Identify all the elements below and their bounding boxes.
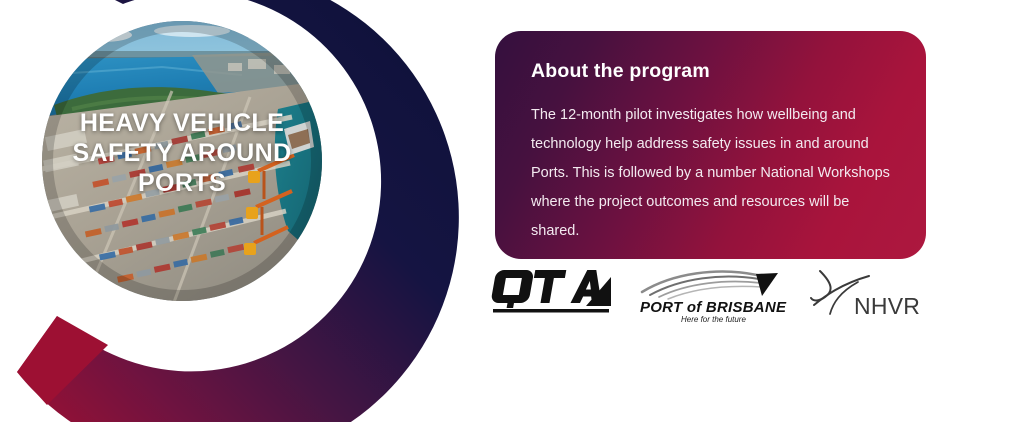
- card-body-text: The 12-month pilot investigates how well…: [531, 101, 890, 246]
- hero-title-line-2: SAFETY AROUND: [42, 138, 322, 168]
- port-of-brisbane-tagline: Here for the future: [681, 315, 746, 324]
- card-heading: About the program: [531, 59, 890, 83]
- qta-logo-mark: [488, 266, 613, 318]
- nhvr-wordmark: NHVR: [854, 293, 920, 319]
- hero-title-line-1: HEAVY VEHICLE: [42, 108, 322, 138]
- hero-title-line-3: PORTS: [42, 168, 322, 198]
- port-of-brisbane-logo-mark: PORT of BRISBANE Here for the future: [633, 266, 798, 324]
- hero-graphic: HEAVY VEHICLE SAFETY AROUND PORTS: [0, 0, 470, 422]
- port-of-brisbane-wordmark: PORT of BRISBANE: [640, 299, 787, 316]
- port-of-brisbane-logo[interactable]: PORT of BRISBANE Here for the future: [633, 266, 798, 324]
- partner-logo-row: PORT of BRISBANE Here for the future NHV…: [488, 266, 938, 328]
- nhvr-logo-mark: NHVR: [810, 266, 932, 322]
- about-the-program-card: About the program The 12-month pilot inv…: [495, 31, 926, 259]
- poster-canvas: HEAVY VEHICLE SAFETY AROUND PORTS About …: [0, 0, 1024, 422]
- nhvr-logo[interactable]: NHVR: [810, 266, 932, 322]
- qta-logo[interactable]: [488, 266, 613, 318]
- hero-title: HEAVY VEHICLE SAFETY AROUND PORTS: [42, 108, 322, 198]
